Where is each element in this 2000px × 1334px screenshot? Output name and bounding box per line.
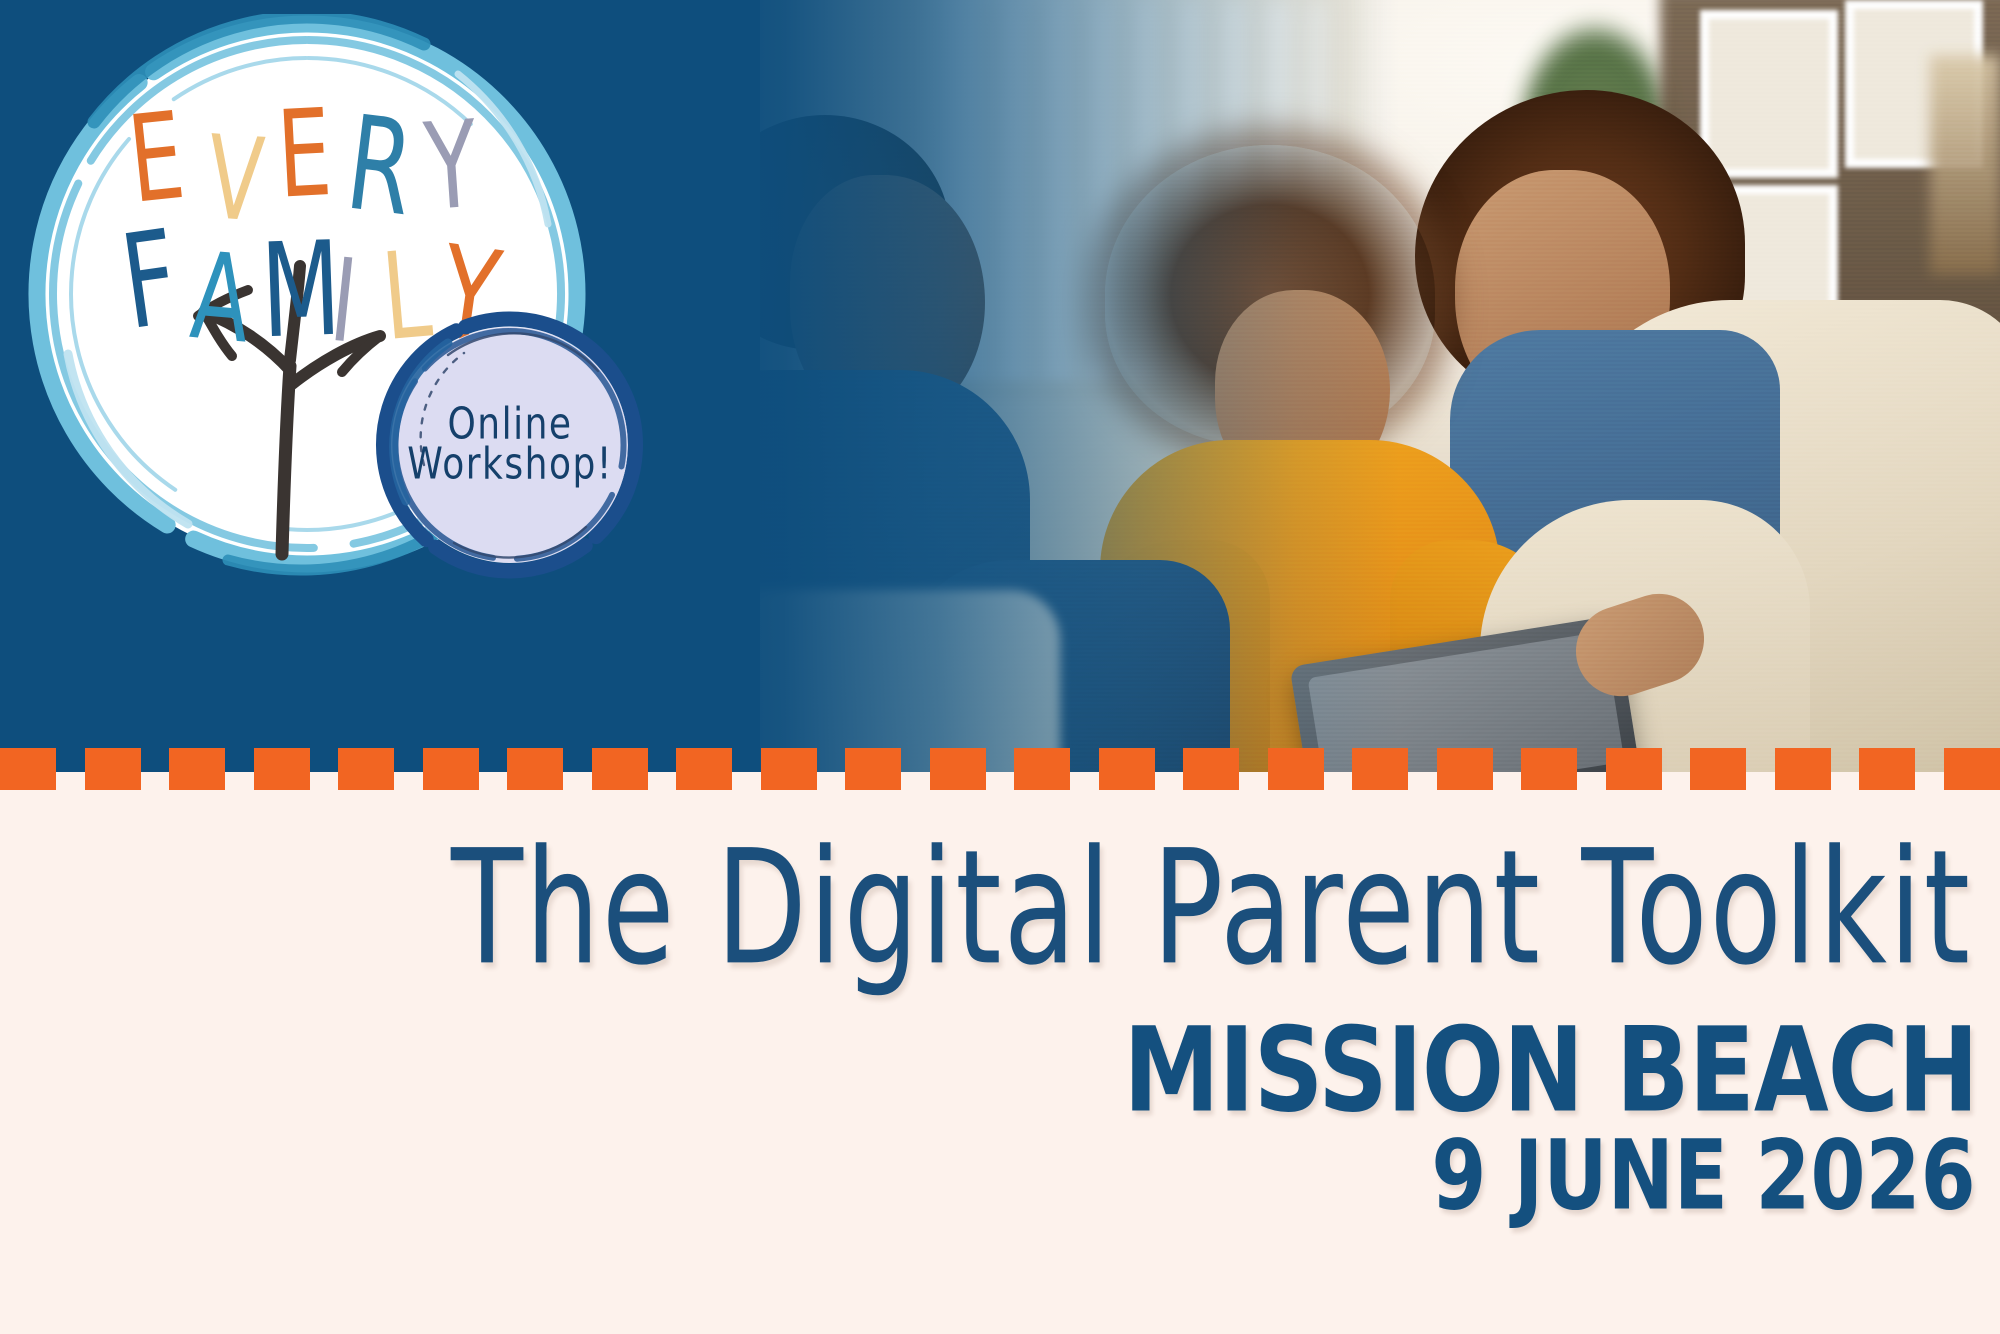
bottom-section: The Digital Parent Toolkit MISSION BEACH… <box>0 790 2000 1334</box>
navy-photo-gradient <box>700 0 1400 772</box>
badge-line-2: Workshop! <box>407 443 613 487</box>
divider-dash <box>254 748 310 790</box>
event-title: The Digital Parent Toolkit <box>451 815 1972 1000</box>
divider-dash <box>1352 748 1408 790</box>
event-flyer: EVERYFAMILY Online <box>0 0 2000 1334</box>
divider-dash <box>1099 748 1155 790</box>
divider-dash <box>423 748 479 790</box>
divider-dash <box>930 748 986 790</box>
online-workshop-badge: Online Workshop! <box>370 305 650 585</box>
divider-dash <box>85 748 141 790</box>
event-location: MISSION BEACH <box>1123 1002 1978 1139</box>
divider-dash <box>845 748 901 790</box>
logo-top-letter: V <box>204 121 267 240</box>
divider-dash <box>592 748 648 790</box>
divider-dash <box>1183 748 1239 790</box>
divider-dash <box>338 748 394 790</box>
orange-dashed-divider <box>0 748 2000 790</box>
logo-top-letter: R <box>341 98 420 235</box>
divider-dash <box>761 748 817 790</box>
divider-dash <box>676 748 732 790</box>
divider-dash <box>1606 748 1662 790</box>
divider-dash <box>1437 748 1493 790</box>
divider-dash <box>1944 748 2000 790</box>
divider-dash <box>1014 748 1070 790</box>
divider-dash <box>0 748 56 790</box>
divider-dash <box>1690 748 1746 790</box>
banner-section: EVERYFAMILY Online <box>0 0 2000 772</box>
logo-top-letter: Y <box>421 104 481 227</box>
logo-bottom-letter: A <box>187 236 255 361</box>
divider-dash <box>169 748 225 790</box>
divider-dash <box>1521 748 1577 790</box>
logo-top-letter: E <box>275 93 335 216</box>
logo-bottom-letter: F <box>115 212 185 348</box>
divider-dash <box>1268 748 1324 790</box>
divider-dash <box>1859 748 1915 790</box>
divider-dash <box>1775 748 1831 790</box>
divider-dash <box>507 748 563 790</box>
event-date: 9 JUNE 2026 <box>1432 1120 1976 1232</box>
